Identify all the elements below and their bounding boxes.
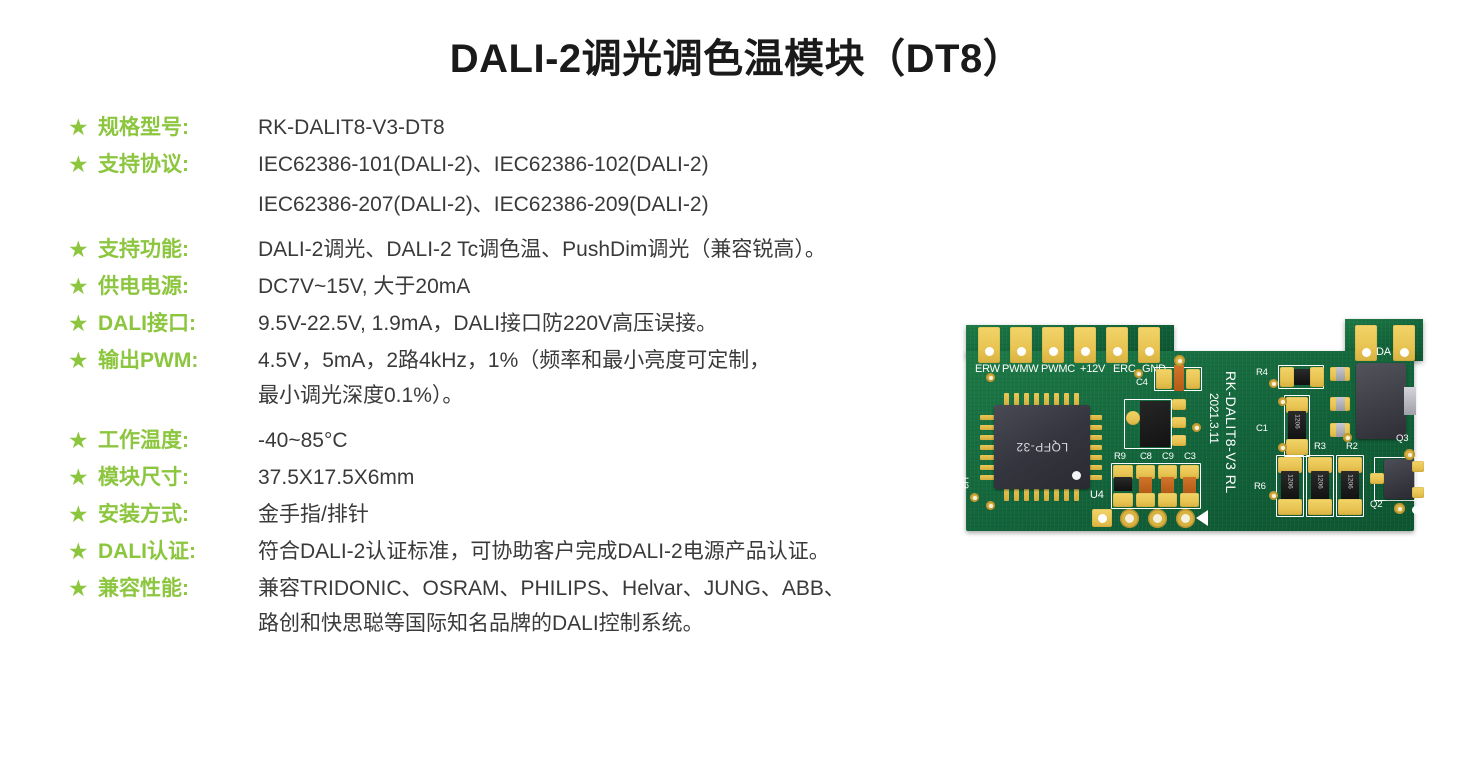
designator-q2: Q2 <box>1370 499 1382 510</box>
spec-value-line: RK-DALIT8-V3-DT8 <box>258 110 1008 145</box>
header-pad-pwmw <box>1010 327 1032 363</box>
header-pad-erw <box>978 327 1000 363</box>
spec-value-line: -40~85°C <box>258 423 1008 458</box>
resistor-r9 <box>1114 477 1132 491</box>
capacitor-c1: 1206 <box>1288 411 1306 441</box>
designator-r2: R2 <box>1346 441 1358 452</box>
spec-value-line: 4.5V，5mA，2路4kHz，1%（频率和最小亮度可定制， <box>258 343 1008 378</box>
spec-value-line: 最小调光深度0.1%）。 <box>258 378 1008 413</box>
designator-c9: C9 <box>1162 451 1174 462</box>
spec-label: DALI认证: <box>98 534 258 569</box>
polarity-triangle-icon <box>1196 510 1208 526</box>
specification-list: ★ 规格型号: RK-DALIT8-V3-DT8 ★ 支持协议: IEC6238… <box>68 110 1008 643</box>
spec-value-line: IEC62386-207(DALI-2)、IEC62386-209(DALI-2… <box>258 187 1008 222</box>
spec-value-line: 9.5V-22.5V, 1.9mA，DALI接口防220V高压误接。 <box>258 306 1008 341</box>
resistor-r2: 1206 <box>1341 471 1359 501</box>
pad-hole <box>1049 347 1058 356</box>
spec-value-line: 兼容TRIDONIC、OSRAM、PHILIPS、Helvar、JUNG、ABB… <box>258 571 1008 606</box>
spec-label: 输出PWM: <box>98 343 258 378</box>
spec-values: DALI-2调光、DALI-2 Tc调色温、PushDim调光（兼容锐高）。 <box>258 232 1008 267</box>
spec-values: 金手指/排针 <box>258 497 1008 532</box>
resistor-r6: 1206 <box>1281 471 1299 501</box>
pin-label-pwmc: PWMC <box>1041 363 1075 375</box>
pad-hole <box>1400 348 1409 357</box>
spec-label: 支持协议: <box>98 147 258 182</box>
designator-c4: C4 <box>1136 377 1148 388</box>
spec-value-line: DALI-2调光、DALI-2 Tc调色温、PushDim调光（兼容锐高）。 <box>258 232 1008 267</box>
star-icon: ★ <box>68 232 98 267</box>
spec-row-dali-interface: ★ DALI接口: 9.5V-22.5V, 1.9mA，DALI接口防220V高… <box>68 306 1008 341</box>
spec-values: 符合DALI-2认证标准，可协助客户完成DALI-2电源产品认证。 <box>258 534 1008 569</box>
spec-label: DALI接口: <box>98 306 258 341</box>
pad-hole <box>1113 347 1122 356</box>
star-icon: ★ <box>68 460 98 495</box>
spec-values: RK-DALIT8-V3-DT8 <box>258 110 1008 145</box>
spec-value-line: IEC62386-101(DALI-2)、IEC62386-102(DALI-2… <box>258 147 1008 182</box>
designator-r6: R6 <box>1254 481 1266 492</box>
designator-u4: U4 <box>1090 489 1104 501</box>
spec-row-operating-temperature: ★ 工作温度: -40~85°C <box>68 423 1008 458</box>
spec-row-protocols: ★ 支持协议: IEC62386-101(DALI-2)、IEC62386-10… <box>68 147 1008 222</box>
star-icon: ★ <box>68 571 98 606</box>
designator-u3: U3 <box>959 477 970 489</box>
spec-values: 9.5V-22.5V, 1.9mA，DALI接口防220V高压误接。 <box>258 306 1008 341</box>
part-code: 1206 <box>1347 473 1354 491</box>
designator-r4: R4 <box>1256 367 1268 378</box>
spec-values: 37.5X17.5X6mm <box>258 460 1008 495</box>
spec-values: 兼容TRIDONIC、OSRAM、PHILIPS、Helvar、JUNG、ABB… <box>258 571 1008 641</box>
star-icon: ★ <box>68 110 98 145</box>
pad-hole <box>1017 347 1026 356</box>
capacitor-c3 <box>1183 477 1196 493</box>
header-pad-pwmc <box>1042 327 1064 363</box>
header-pad-12v <box>1074 327 1096 363</box>
spec-row-model: ★ 规格型号: RK-DALIT8-V3-DT8 <box>68 110 1008 145</box>
part-code: 1206 <box>1317 473 1324 491</box>
star-icon: ★ <box>68 306 98 341</box>
spec-row-functions: ★ 支持功能: DALI-2调光、DALI-2 Tc调色温、PushDim调光（… <box>68 232 1008 267</box>
designator-q3: Q3 <box>1396 433 1408 444</box>
spec-values: 4.5V，5mA，2路4kHz，1%（频率和最小亮度可定制， 最小调光深度0.1… <box>258 343 1008 413</box>
spec-value-line: 路创和快思聪等国际知名品牌的DALI控制系统。 <box>258 606 1008 641</box>
pad-hole <box>1081 347 1090 356</box>
pad-hole <box>985 347 994 356</box>
page-title: DALI-2调光调色温模块（DT8） <box>0 26 1473 84</box>
silkscreen-part-number: RK-DALIT8-V3 RL <box>1223 371 1239 494</box>
spec-row-power-supply: ★ 供电电源: DC7V~15V, 大于20mA <box>68 269 1008 304</box>
transistor-q2 <box>1384 459 1414 499</box>
transistor-q3 <box>1356 363 1406 439</box>
header-pad-erc <box>1106 327 1128 363</box>
spec-row-dali-certification: ★ DALI认证: 符合DALI-2认证标准，可协助客户完成DALI-2电源产品… <box>68 534 1008 569</box>
star-icon: ★ <box>68 534 98 569</box>
capacitor-c8 <box>1139 477 1152 493</box>
pad-hole <box>1362 348 1371 357</box>
spec-values: DC7V~15V, 大于20mA <box>258 269 1008 304</box>
pcb-product-image: ERW PWMW PWMC +12V ERC GND DA LQFP-32 U3… <box>956 311 1434 538</box>
pin-label-12v: +12V <box>1080 363 1105 375</box>
spec-value-line: 金手指/排针 <box>258 497 1008 532</box>
capacitor-c4 <box>1174 365 1184 391</box>
pin-label-erc: ERC <box>1113 363 1136 375</box>
designator-c3: C3 <box>1184 451 1196 462</box>
spec-label: 安装方式: <box>98 497 258 532</box>
designator-r9: R9 <box>1114 451 1126 462</box>
spec-values: IEC62386-101(DALI-2)、IEC62386-102(DALI-2… <box>258 147 1008 222</box>
spec-row-module-size: ★ 模块尺寸: 37.5X17.5X6mm <box>68 460 1008 495</box>
designator-c1: C1 <box>1256 423 1268 434</box>
part-code: 1206 <box>1294 413 1301 431</box>
pin1-dot <box>1072 471 1081 480</box>
star-icon: ★ <box>68 423 98 458</box>
spec-value-line: DC7V~15V, 大于20mA <box>258 269 1008 304</box>
designator-c8: C8 <box>1140 451 1152 462</box>
spec-value-line: 37.5X17.5X6mm <box>258 460 1008 495</box>
header-pad-gnd <box>1138 327 1160 363</box>
dali-pad-label: DA <box>1376 346 1391 358</box>
spec-label: 规格型号: <box>98 110 258 145</box>
spec-values: -40~85°C <box>258 423 1008 458</box>
star-icon: ★ <box>68 147 98 182</box>
spec-label: 模块尺寸: <box>98 460 258 495</box>
silkscreen-date: 2021.3.11 <box>1207 393 1221 444</box>
spec-label: 兼容性能: <box>98 571 258 606</box>
regulator-ic <box>1140 401 1170 447</box>
pad-hole <box>1145 347 1154 356</box>
pin-label-pwmw: PWMW <box>1002 363 1038 375</box>
spec-row-mounting: ★ 安装方式: 金手指/排针 <box>68 497 1008 532</box>
spec-label: 工作温度: <box>98 423 258 458</box>
spec-label: 供电电源: <box>98 269 258 304</box>
part-code: 1206 <box>1287 473 1294 491</box>
spec-row-compatibility: ★ 兼容性能: 兼容TRIDONIC、OSRAM、PHILIPS、Helvar、… <box>68 571 1008 641</box>
star-icon: ★ <box>68 269 98 304</box>
spec-value-line: 符合DALI-2认证标准，可协助客户完成DALI-2电源产品认证。 <box>258 534 1008 569</box>
resistor-r3: 1206 <box>1311 471 1329 501</box>
star-icon: ★ <box>68 497 98 532</box>
spec-label: 支持功能: <box>98 232 258 267</box>
capacitor-c9 <box>1161 477 1174 493</box>
star-icon: ★ <box>68 343 98 378</box>
designator-r3: R3 <box>1314 441 1326 452</box>
spec-row-pwm-output: ★ 输出PWM: 4.5V，5mA，2路4kHz，1%（频率和最小亮度可定制， … <box>68 343 1008 413</box>
